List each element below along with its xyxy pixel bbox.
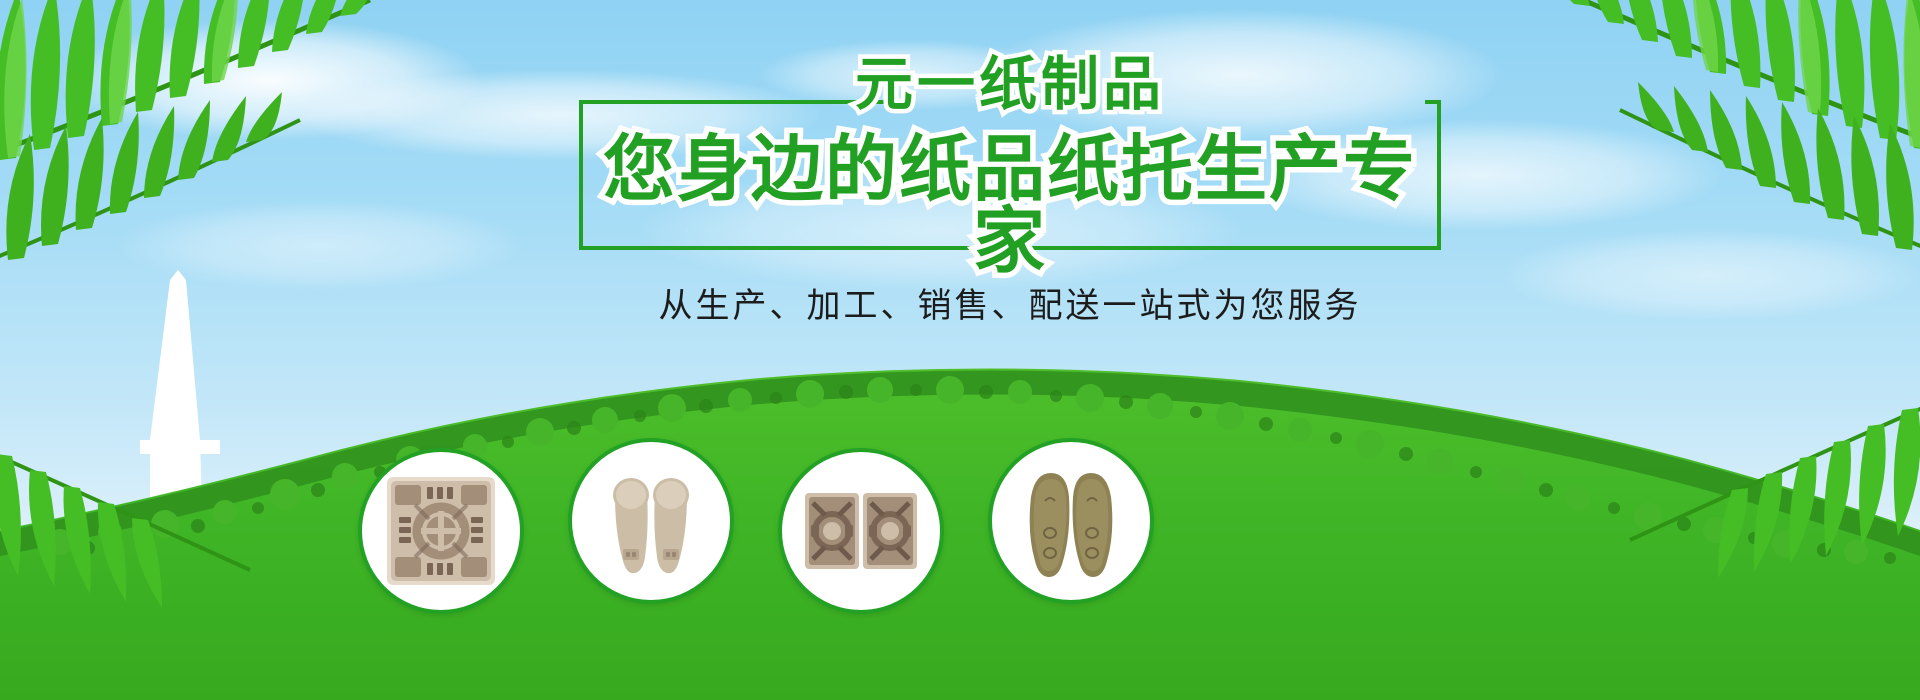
square-pulp-tray-icon [381,471,501,591]
headline-block: 元一纸制品 您身边的纸品纸托生产专家 从生产、加工、销售、配送一站式为您服务 [560,100,1460,327]
paired-pulp-trays-icon [801,471,921,591]
product-circle-olive-shoe-forms[interactable] [988,438,1154,604]
product-circle-paired-pulp-trays[interactable] [778,448,944,614]
product-circle-row [0,400,1920,700]
cloud-icon [60,20,480,140]
headline-text: 您身边的纸品纸托生产专家 [583,134,1437,278]
subtitle-text: 从生产、加工、销售、配送一站式为您服务 [560,278,1460,327]
product-circle-square-pulp-tray[interactable] [358,448,524,614]
brand-title: 元一纸制品 [583,56,1437,114]
product-circle-shoe-insole-pair[interactable] [568,438,734,604]
headline-frame: 元一纸制品 您身边的纸品纸托生产专家 [579,100,1441,250]
olive-shoe-forms-icon [1011,461,1131,581]
shoe-insole-pair-icon [591,461,711,581]
promotional-banner: 元一纸制品 您身边的纸品纸托生产专家 从生产、加工、销售、配送一站式为您服务 [0,0,1920,700]
